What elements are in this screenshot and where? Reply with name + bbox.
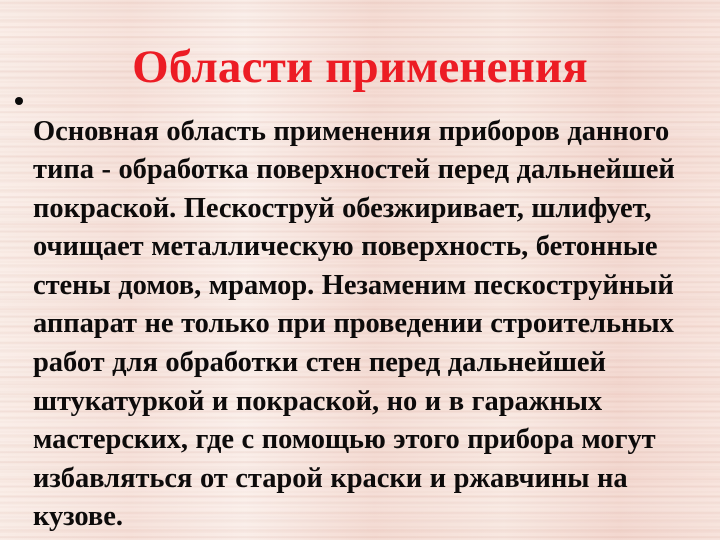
slide-body: Основная область применения приборов дан… xyxy=(8,84,708,540)
presentation-slide: Области применения Основная область прим… xyxy=(0,0,720,540)
bullet-item-text: Основная область применения приборов дан… xyxy=(33,113,708,538)
bullet-list-item: Основная область применения приборов дан… xyxy=(8,84,708,540)
bullet-dot-icon xyxy=(15,97,23,105)
bullet-marker xyxy=(8,84,33,105)
